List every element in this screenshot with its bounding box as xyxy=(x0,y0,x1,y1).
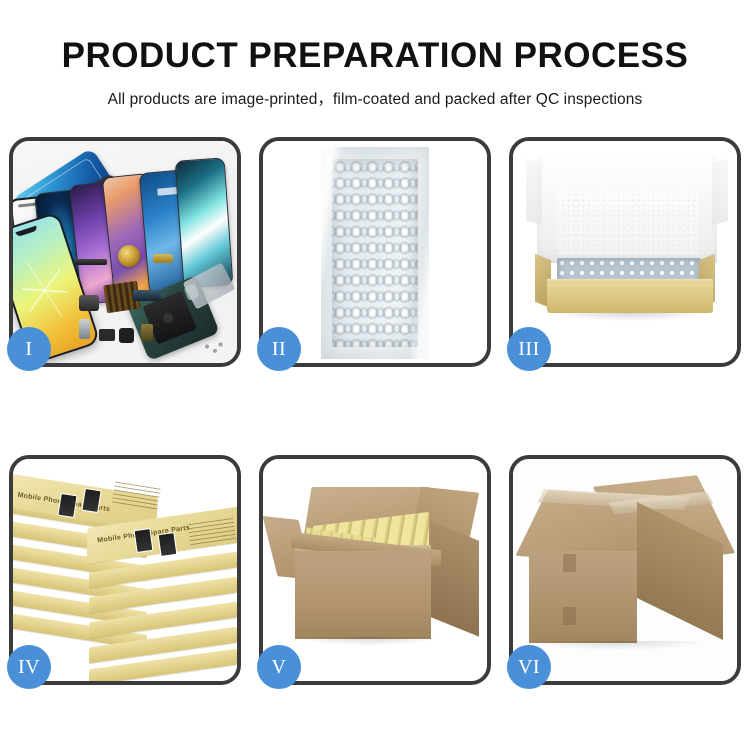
mailer-front-panel-icon xyxy=(547,283,713,313)
step-badge-6: VI xyxy=(507,645,551,689)
screws-icon xyxy=(203,341,223,355)
camera-module-icon xyxy=(79,295,99,311)
carton-shadow xyxy=(533,641,703,650)
carton-shadow xyxy=(299,637,439,646)
step-panel-bubble-wrap: II xyxy=(259,137,491,367)
box-artwork-screen-icon xyxy=(57,493,77,518)
bag-sheen-icon xyxy=(321,147,429,359)
gold-connector-icon xyxy=(153,254,173,263)
vibrator-icon xyxy=(119,328,134,343)
step-badge-3: III xyxy=(507,327,551,371)
step-panel-boxed-stack: Mobile Phone Spare Parts Mobile Phone Sp… xyxy=(9,455,241,685)
box-artwork-screen-icon xyxy=(133,528,153,553)
step-badge-4: IV xyxy=(7,645,51,689)
page-subtitle: All products are image-printed，film-coat… xyxy=(0,73,750,109)
speaker-coil-icon xyxy=(118,245,140,267)
step-panel-sealed-carton: VI xyxy=(509,455,741,685)
small-part-icon xyxy=(99,329,115,341)
bubble-wrap-image xyxy=(263,141,487,363)
carton-body-icon xyxy=(295,551,431,639)
box-stack: Mobile Phone Spare Parts Mobile Phone Sp… xyxy=(13,459,237,681)
battery-strip-icon xyxy=(79,319,90,339)
flex-cable-icon xyxy=(75,259,107,265)
carton-seam-icon xyxy=(563,554,576,572)
step-panel-carton-filling: V xyxy=(259,455,491,685)
boxed-stack-image: Mobile Phone Spare Parts Mobile Phone Sp… xyxy=(13,459,237,681)
carton-filling-image xyxy=(263,459,487,681)
step-panel-phone-parts: I xyxy=(9,137,241,367)
inner-box-image xyxy=(513,141,737,363)
phone-parts-image xyxy=(13,141,237,363)
sealed-carton-image xyxy=(513,459,737,681)
header: PRODUCT PREPARATION PROCESS All products… xyxy=(0,0,750,109)
step-panel-inner-box: III xyxy=(509,137,741,367)
box-shadow xyxy=(553,313,707,321)
box-artwork-screen-icon xyxy=(157,532,177,557)
page-title: PRODUCT PREPARATION PROCESS xyxy=(0,0,750,73)
foam-sheet-icon xyxy=(557,189,699,255)
ribbon-cable-icon xyxy=(133,290,161,301)
carton-seam-icon xyxy=(563,607,576,625)
step-badge-5: V xyxy=(257,645,301,689)
button-part-icon xyxy=(163,313,173,323)
carton-side-panel-icon xyxy=(431,521,479,636)
product-preparation-infographic: PRODUCT PREPARATION PROCESS All products… xyxy=(0,0,750,750)
steps-grid: I II III xyxy=(9,137,741,684)
sealed-carton-front-icon xyxy=(529,551,637,643)
step-badge-2: II xyxy=(257,327,301,371)
box-artwork-screen-icon xyxy=(81,488,101,513)
sim-tray-icon xyxy=(141,324,153,341)
step-badge-1: I xyxy=(7,327,51,371)
